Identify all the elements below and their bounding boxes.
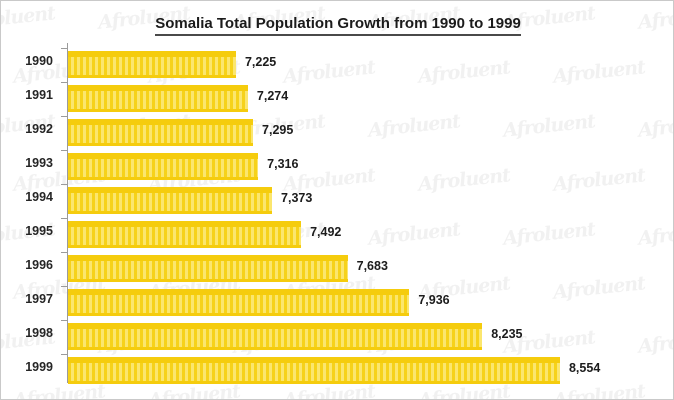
- bar-value-label-1999: 8,554: [569, 361, 600, 375]
- bar-row: 19967,683: [1, 252, 674, 286]
- category-label-1990: 1990: [1, 54, 53, 68]
- category-label-1994: 1994: [1, 190, 53, 204]
- bar-1994[interactable]: [68, 187, 272, 214]
- bar-1995[interactable]: [68, 221, 301, 248]
- chart-title: Somalia Total Population Growth from 199…: [1, 15, 674, 32]
- bar-value-label-1998: 8,235: [491, 327, 522, 341]
- plot-area: 19907,22519917,27419927,29519937,3161994…: [1, 43, 674, 388]
- bar-1997[interactable]: [68, 289, 409, 316]
- axis-tick: [61, 286, 68, 287]
- bar-1991[interactable]: [68, 85, 248, 112]
- bar-value-label-1996: 7,683: [357, 259, 388, 273]
- category-label-1998: 1998: [1, 326, 53, 340]
- bar-row: 19907,225: [1, 48, 674, 82]
- bar-value-label-1993: 7,316: [267, 157, 298, 171]
- bar-row: 19947,373: [1, 184, 674, 218]
- bar-value-label-1990: 7,225: [245, 55, 276, 69]
- axis-tick: [61, 354, 68, 355]
- chart-title-text: Somalia Total Population Growth from 199…: [155, 15, 521, 36]
- bar-row: 19977,936: [1, 286, 674, 320]
- bar-value-label-1994: 7,373: [281, 191, 312, 205]
- bar-value-label-1991: 7,274: [257, 89, 288, 103]
- category-label-1996: 1996: [1, 258, 53, 272]
- bar-value-label-1995: 7,492: [310, 225, 341, 239]
- bar-1996[interactable]: [68, 255, 348, 282]
- category-label-1995: 1995: [1, 224, 53, 238]
- bar-row: 19988,235: [1, 320, 674, 354]
- axis-tick: [61, 116, 68, 117]
- bar-row: 19917,274: [1, 82, 674, 116]
- category-label-1999: 1999: [1, 360, 53, 374]
- chart-container: AfroluentAfroluentAfroluentAfroluentAfro…: [0, 0, 674, 400]
- bar-row: 19998,554: [1, 354, 674, 388]
- bar-row: 19937,316: [1, 150, 674, 184]
- category-label-1993: 1993: [1, 156, 53, 170]
- axis-tick: [61, 48, 68, 49]
- axis-tick: [61, 184, 68, 185]
- category-label-1997: 1997: [1, 292, 53, 306]
- bar-1992[interactable]: [68, 119, 253, 146]
- category-label-1992: 1992: [1, 122, 53, 136]
- bar-row: 19927,295: [1, 116, 674, 150]
- bar-1998[interactable]: [68, 323, 482, 350]
- axis-tick: [61, 82, 68, 83]
- category-label-1991: 1991: [1, 88, 53, 102]
- axis-tick: [61, 218, 68, 219]
- bar-1993[interactable]: [68, 153, 258, 180]
- axis-tick: [61, 150, 68, 151]
- bar-row: 19957,492: [1, 218, 674, 252]
- bar-1999[interactable]: [68, 357, 560, 384]
- bar-1990[interactable]: [68, 51, 236, 78]
- bar-value-label-1997: 7,936: [418, 293, 449, 307]
- bar-value-label-1992: 7,295: [262, 123, 293, 137]
- axis-tick: [61, 320, 68, 321]
- axis-tick: [61, 252, 68, 253]
